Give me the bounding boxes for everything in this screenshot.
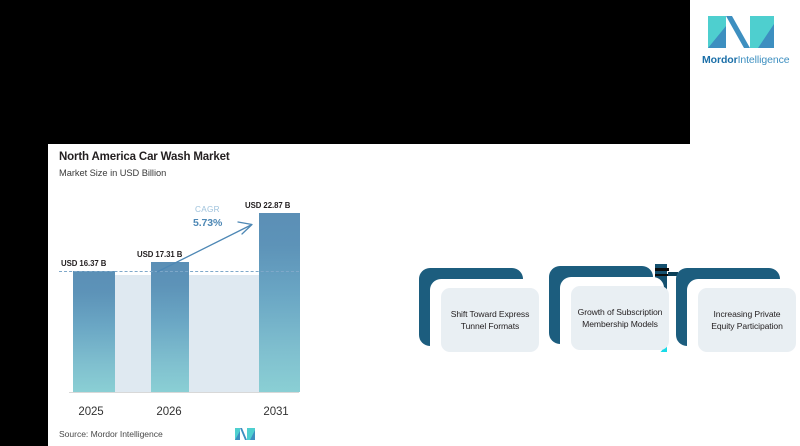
x-tick-2025: 2025	[67, 406, 115, 418]
bar-2026-fill	[151, 262, 189, 392]
driver-card-2-surface: Growth of Subscription Membership Models	[560, 277, 664, 355]
bar-chart-plot-area: USD 16.37 B USD 17.31 B USD 22.87 B CAGR…	[59, 206, 299, 396]
mordor-m-mark-small-icon	[234, 427, 256, 441]
reference-dashed-line	[59, 271, 299, 272]
source-label: Source: Mordor Intelligence	[59, 429, 163, 439]
driver-card-3-surface: Increasing Private Equity Participation	[687, 279, 791, 357]
bar-2025	[73, 271, 115, 392]
x-tick-2026: 2026	[145, 406, 193, 418]
bar-2031-fill	[259, 213, 300, 392]
bar-2026	[151, 262, 189, 392]
cagr-label: CAGR	[195, 205, 220, 214]
x-axis-line	[69, 392, 299, 394]
driver-card-2-inner: Growth of Subscription Membership Models	[571, 286, 669, 350]
render-artifact-dark-line-2	[655, 274, 669, 276]
cagr-value: 5.73%	[193, 217, 222, 229]
mordor-intelligence-wordmark: MordorIntelligence	[702, 54, 786, 66]
driver-card-3-text: Increasing Private Equity Participation	[698, 308, 796, 332]
chart-panel: North America Car Wash Market Market Siz…	[48, 144, 310, 446]
x-tick-2031: 2031	[252, 406, 300, 418]
driver-card-1-surface: Shift Toward Express Tunnel Formats	[430, 279, 534, 357]
wordmark-bold: Mordor	[702, 54, 738, 66]
backdrop-block-left	[0, 144, 48, 446]
bar-value-label-2026: USD 17.31 B	[137, 250, 182, 259]
mordor-intelligence-logo: MordorIntelligence	[702, 12, 786, 70]
chart-subtitle: Market Size in USD Billion	[59, 168, 166, 178]
bar-2025-fill	[73, 271, 115, 392]
chart-title: North America Car Wash Market	[59, 151, 230, 163]
driver-card-2-text: Growth of Subscription Membership Models	[571, 306, 669, 330]
driver-card-1-text: Shift Toward Express Tunnel Formats	[441, 308, 539, 332]
bar-value-label-2031: USD 22.87 B	[245, 201, 290, 210]
driver-card-1-inner: Shift Toward Express Tunnel Formats	[441, 288, 539, 352]
bar-2031	[259, 213, 300, 392]
wordmark-light: Intelligence	[738, 54, 790, 66]
bar-value-label-2025: USD 16.37 B	[61, 259, 106, 268]
render-artifact-dark-line-1	[655, 268, 669, 271]
mordor-m-mark-icon	[702, 12, 786, 52]
driver-card-3-inner: Increasing Private Equity Participation	[698, 288, 796, 352]
backdrop-block-top	[0, 0, 690, 144]
